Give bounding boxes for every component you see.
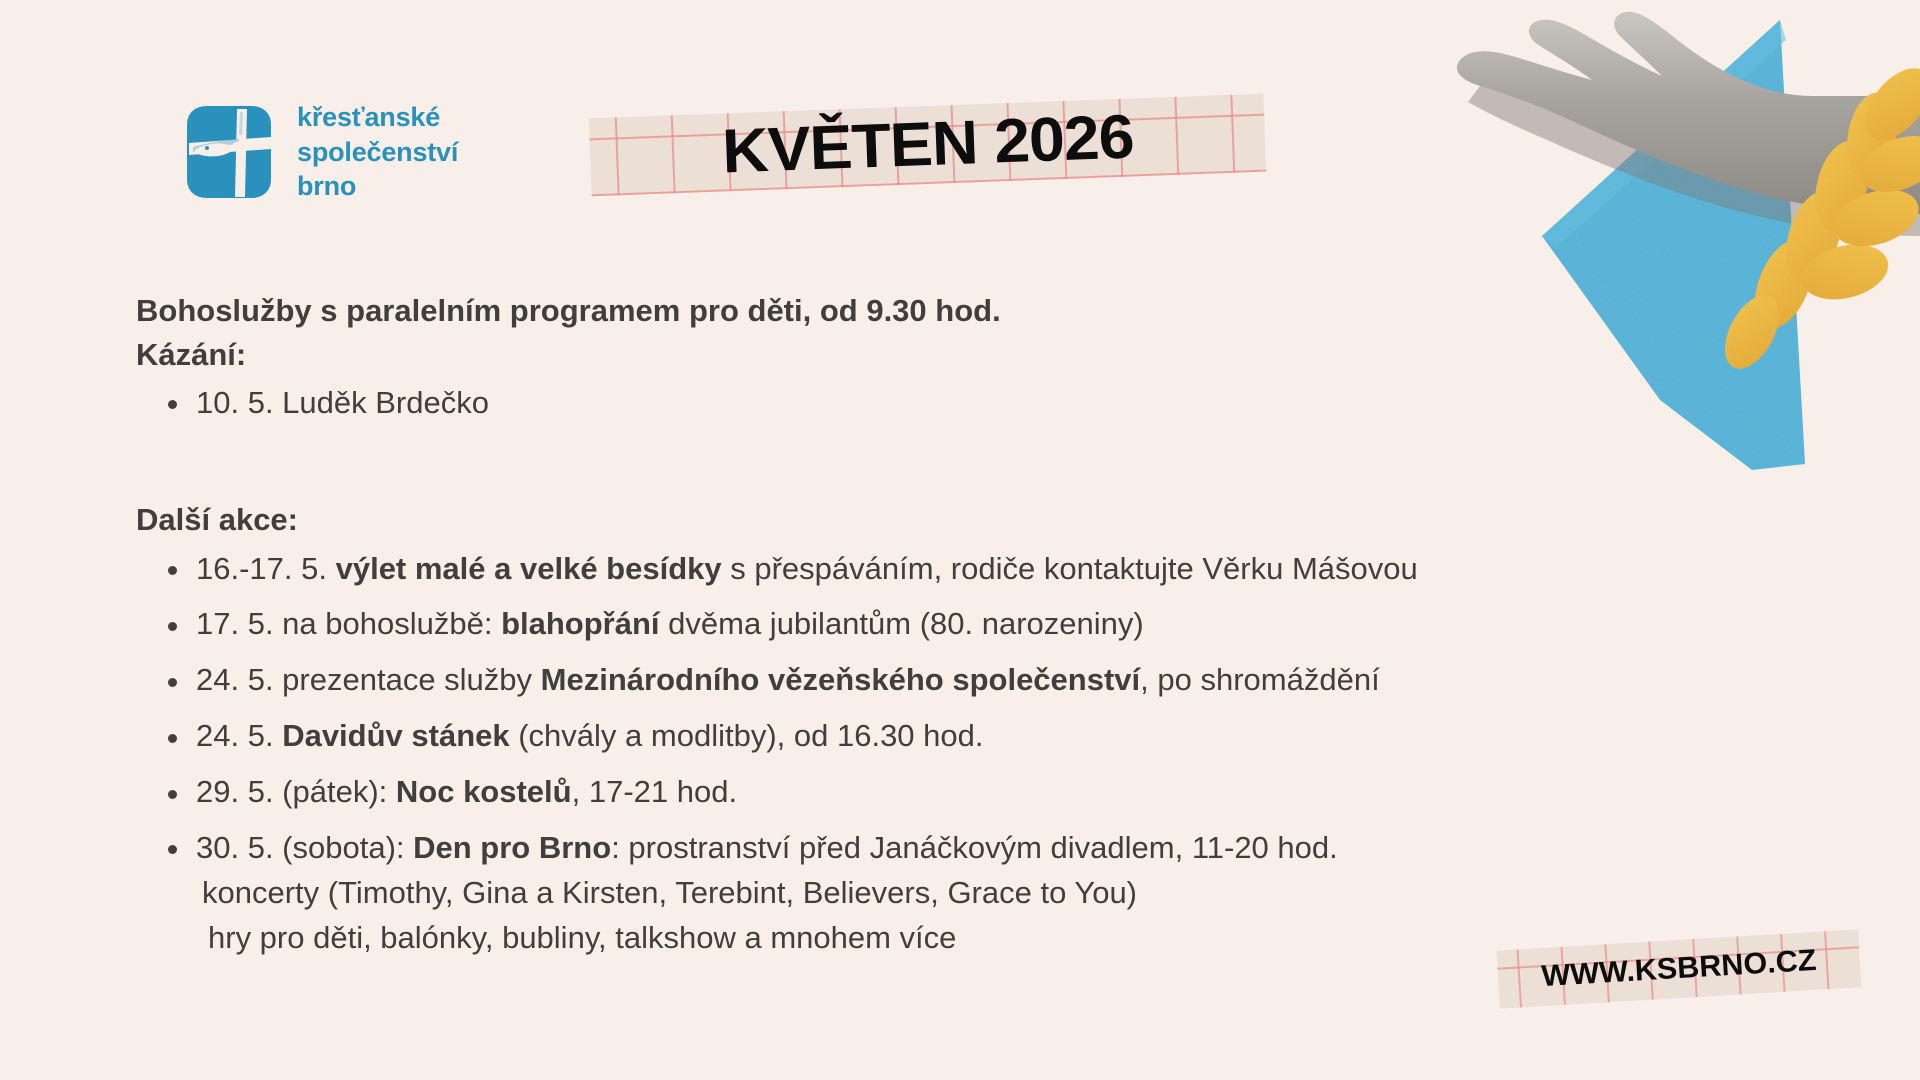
- bullet-dot-icon: [168, 734, 177, 743]
- bullet-dot-icon: [168, 790, 177, 799]
- table-row: 24. 5. Davidův stánek (chvály a modlitby…: [136, 714, 1756, 759]
- event-prefix: 29. 5. (pátek):: [196, 774, 396, 809]
- brand-logo[interactable]: křesťanské společenství brno: [183, 100, 458, 204]
- event-prefix: 24. 5.: [196, 718, 282, 753]
- services-lead: Bohoslužby s paralelním programem pro dě…: [136, 290, 1756, 332]
- sermons-list: 10. 5. Luděk Brdečko: [136, 381, 1756, 426]
- event-highlight: Mezinárodního vězeňského společenství: [541, 662, 1141, 697]
- event-suffix: dvěma jubilantům (80. narozeniny): [660, 606, 1144, 641]
- event-prefix: 17. 5. na bohoslužbě:: [196, 606, 501, 641]
- event-prefix: 24. 5. prezentace služby: [196, 662, 541, 697]
- table-row: 17. 5. na bohoslužbě: blahopřání dvěma j…: [136, 602, 1756, 647]
- event-highlight: výlet malé a velké besídky: [336, 551, 722, 586]
- page-title: KVĚTEN 2026: [721, 106, 1134, 183]
- bullet-dot-icon: [168, 845, 177, 854]
- poster-canvas: křesťanské společenství brno KVĚTEN 2026…: [0, 0, 1920, 1080]
- sermon-text: 10. 5. Luděk Brdečko: [196, 385, 489, 420]
- bullet-dot-icon: [168, 566, 177, 575]
- table-row: 16.-17. 5. výlet malé a velké besídky s …: [136, 547, 1756, 592]
- event-highlight: Davidův stánek: [282, 718, 509, 753]
- event-highlight: Noc kostelů: [396, 774, 572, 809]
- event-highlight: Den pro Brno: [413, 830, 611, 865]
- event-suffix: (chvály a modlitby), od 16.30 hod.: [510, 718, 984, 753]
- events-list: 16.-17. 5. výlet malé a velké besídky s …: [136, 547, 1756, 962]
- event-prefix: 16.-17. 5.: [196, 551, 336, 586]
- section-spacer: [136, 437, 1756, 499]
- month-title-banner: KVĚTEN 2026: [589, 94, 1266, 197]
- sermons-label: Kázání:: [136, 334, 1756, 376]
- bullet-dot-icon: [168, 400, 177, 409]
- logo-line-1: křesťanské: [297, 100, 458, 135]
- event-suffix: : prostranství před Janáčkovým divadlem,…: [611, 830, 1338, 865]
- logo-wordmark: křesťanské společenství brno: [297, 100, 458, 204]
- table-row: 30. 5. (sobota): Den pro Brno: prostrans…: [136, 826, 1756, 961]
- christian-fellowship-cross-icon: [183, 103, 275, 201]
- logo-line-2: společenství: [297, 135, 458, 170]
- list-item: 10. 5. Luděk Brdečko: [136, 381, 1756, 426]
- event-prefix: 30. 5. (sobota):: [196, 830, 413, 865]
- event-continuation-1: koncerty (Timothy, Gina a Kirsten, Tereb…: [196, 871, 1756, 916]
- event-suffix: s přespáváním, rodiče kontaktujte Věrku …: [722, 551, 1418, 586]
- poster-body: Bohoslužby s paralelním programem pro dě…: [136, 290, 1756, 972]
- events-heading: Další akce:: [136, 499, 1756, 541]
- bullet-dot-icon: [168, 678, 177, 687]
- table-row: 29. 5. (pátek): Noc kostelů, 17-21 hod.: [136, 770, 1756, 815]
- event-suffix: , po shromáždění: [1140, 662, 1380, 697]
- bullet-dot-icon: [168, 622, 177, 631]
- event-highlight: blahopřání: [501, 606, 659, 641]
- table-row: 24. 5. prezentace služby Mezinárodního v…: [136, 658, 1756, 703]
- logo-line-3: brno: [297, 169, 458, 204]
- event-suffix: , 17-21 hod.: [572, 774, 737, 809]
